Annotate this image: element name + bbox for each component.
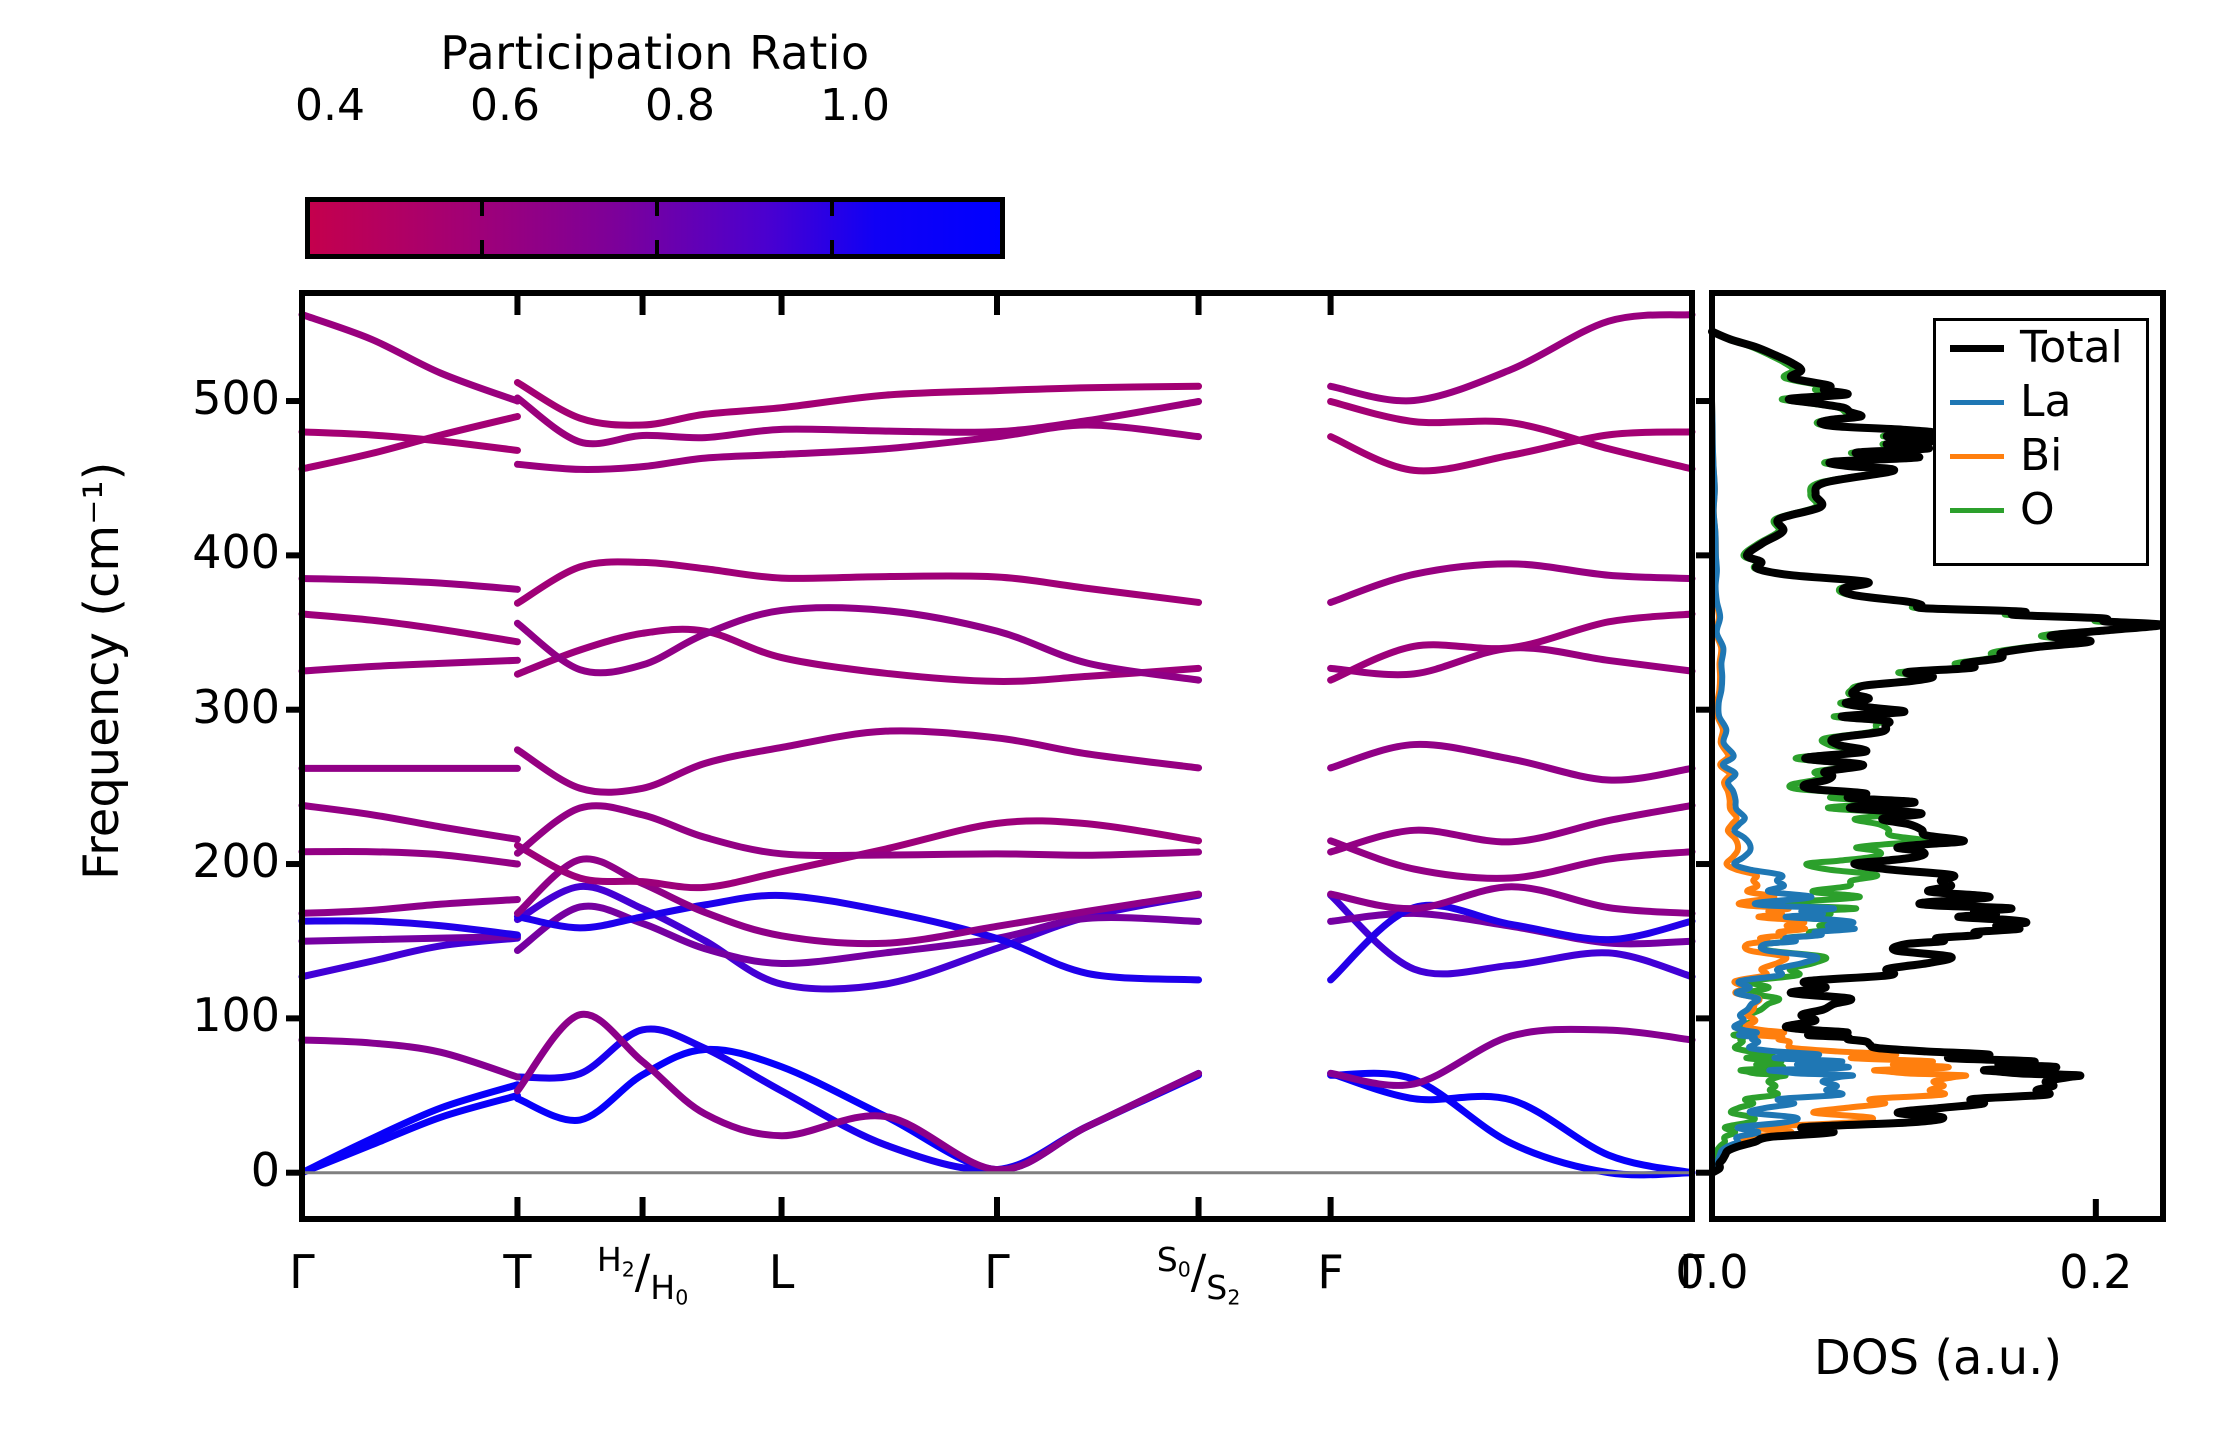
band-curve — [517, 895, 1198, 980]
band-curve — [302, 1085, 517, 1173]
dos-curve-la — [1712, 401, 1855, 1173]
y-tick-label-200: 200 — [120, 834, 280, 888]
band-curve — [302, 579, 517, 590]
dos-curve-bi — [1712, 401, 1966, 1173]
y-tick-label-400: 400 — [120, 525, 280, 579]
y-tick-label-300: 300 — [120, 680, 280, 734]
colorbar-tick-2: 0.8 — [645, 80, 715, 131]
legend-item-total[interactable]: Total — [1936, 321, 2146, 375]
band-curve — [1331, 805, 1692, 852]
band-curve — [302, 1040, 517, 1077]
colorbar-title: Participation Ratio — [305, 30, 1005, 76]
band-curve — [302, 938, 517, 977]
legend-label-la: La — [2020, 380, 2071, 424]
band-curve — [302, 432, 517, 451]
band-curve — [1331, 895, 1692, 977]
band-curve — [1331, 564, 1692, 603]
band-curve — [517, 1014, 1198, 1169]
band-curve — [1331, 315, 1692, 401]
x-tick-label-F: F — [1317, 1245, 1343, 1299]
band-curve — [1331, 402, 1692, 469]
band-curve — [302, 900, 517, 914]
band-curve — [1331, 887, 1692, 914]
y-tick-label-100: 100 — [120, 988, 280, 1042]
band-curve — [302, 1096, 517, 1173]
band-curve — [302, 921, 517, 935]
colorbar-tick-3: 1.0 — [820, 80, 890, 131]
band-curve — [1331, 841, 1692, 878]
legend-label-total: Total — [2020, 326, 2123, 370]
y-tick-label-500: 500 — [120, 371, 280, 425]
band-curve — [302, 315, 517, 401]
band-curve — [1331, 648, 1692, 675]
dos-axis-label: DOS (a.u.) — [1814, 1330, 2062, 1386]
band-curve — [517, 383, 1198, 426]
band-curve — [517, 1049, 1198, 1169]
legend-item-bi[interactable]: Bi — [1936, 429, 2146, 483]
band-curve — [302, 614, 517, 642]
band-curve — [517, 562, 1198, 603]
band-curve — [517, 886, 1198, 989]
colorbar-tick-1: 0.6 — [470, 80, 540, 131]
band-curve — [517, 1029, 1198, 1170]
dos-legend[interactable]: Total La Bi O — [1933, 318, 2149, 566]
y-tick-label-0: 0 — [120, 1143, 280, 1197]
participation-ratio-colorbar[interactable] — [305, 197, 1005, 259]
band-curve — [1331, 1029, 1692, 1085]
legend-swatch-la — [1950, 400, 2004, 405]
band-curve — [302, 937, 517, 942]
x-tick-label-S0-S2: S0/S2 — [1157, 1240, 1241, 1310]
x-tick-label-H2-H0: H2/H0 — [597, 1240, 688, 1310]
band-curve — [302, 416, 517, 468]
legend-swatch-o — [1950, 508, 2004, 513]
axes-frames-group — [286, 293, 2163, 1219]
band-curve — [302, 851, 517, 864]
legend-item-o[interactable]: O — [1936, 483, 2146, 537]
x-tick-label-gamma-1: Γ — [289, 1245, 315, 1299]
band-curve — [1331, 905, 1692, 980]
band-curve — [517, 906, 1198, 963]
band-curve — [1331, 1073, 1692, 1175]
legend-swatch-total — [1950, 345, 2004, 352]
legend-label-o: O — [2020, 488, 2055, 532]
band-curve — [517, 806, 1198, 856]
band-curve — [1331, 432, 1692, 471]
dos-tick-label-0: 0.0 — [1675, 1245, 1748, 1299]
band-curve — [302, 660, 517, 671]
band-curve — [517, 398, 1198, 444]
band-curve — [1331, 744, 1692, 780]
band-curve — [517, 821, 1198, 888]
y-axis-label: Frequency (cm⁻¹) — [74, 462, 130, 880]
x-tick-label-L: L — [769, 1245, 795, 1299]
band-curves-group — [302, 315, 1692, 1175]
x-tick-label-T: T — [503, 1245, 531, 1299]
band-curve — [302, 805, 517, 839]
band-curve — [517, 608, 1198, 680]
band-curve — [517, 859, 1198, 944]
band-curve — [1331, 1073, 1692, 1172]
legend-item-la[interactable]: La — [1936, 375, 2146, 429]
legend-label-bi: Bi — [2020, 434, 2062, 478]
dos-tick-label-1: 0.2 — [2059, 1245, 2132, 1299]
band-curve — [517, 425, 1198, 469]
colorbar-tick-0: 0.4 — [295, 80, 365, 131]
band-curve — [1331, 614, 1692, 680]
legend-swatch-bi — [1950, 454, 2004, 459]
band-curve — [1331, 913, 1692, 944]
x-tick-label-gamma-2: Γ — [984, 1245, 1010, 1299]
band-curve — [517, 731, 1198, 792]
band-curve — [517, 629, 1198, 681]
phonon-figure: Participation Ratio 0.4 0.6 0.8 1.0 Freq… — [0, 0, 2222, 1455]
